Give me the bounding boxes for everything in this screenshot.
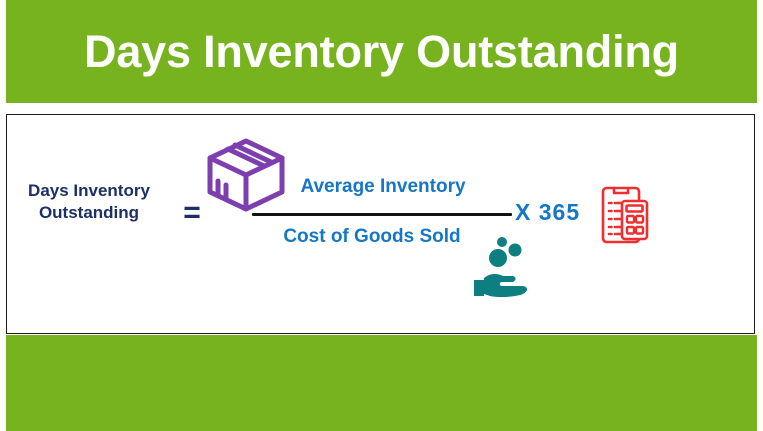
infographic-canvas: Days Inventory Outstanding Days Inventor…	[0, 0, 763, 431]
fraction-bar	[252, 213, 512, 216]
hand-holding-coins-icon	[472, 236, 530, 298]
multiplier-label: X 365	[515, 199, 580, 226]
formula-left-label: Days Inventory Outstanding	[4, 180, 174, 224]
footer-band	[6, 335, 757, 431]
package-box-icon	[203, 136, 289, 214]
equals-sign: =	[178, 198, 206, 228]
formula-denominator: Cost of Goods Sold	[252, 226, 492, 248]
clipboard-calculator-icon	[598, 184, 650, 246]
formula-left-label-line1: Days Inventory	[28, 181, 150, 200]
formula-numerator: Average Inventory	[252, 176, 514, 198]
page-title: Days Inventory Outstanding	[6, 8, 757, 96]
formula-left-label-line2: Outstanding	[4, 202, 174, 224]
